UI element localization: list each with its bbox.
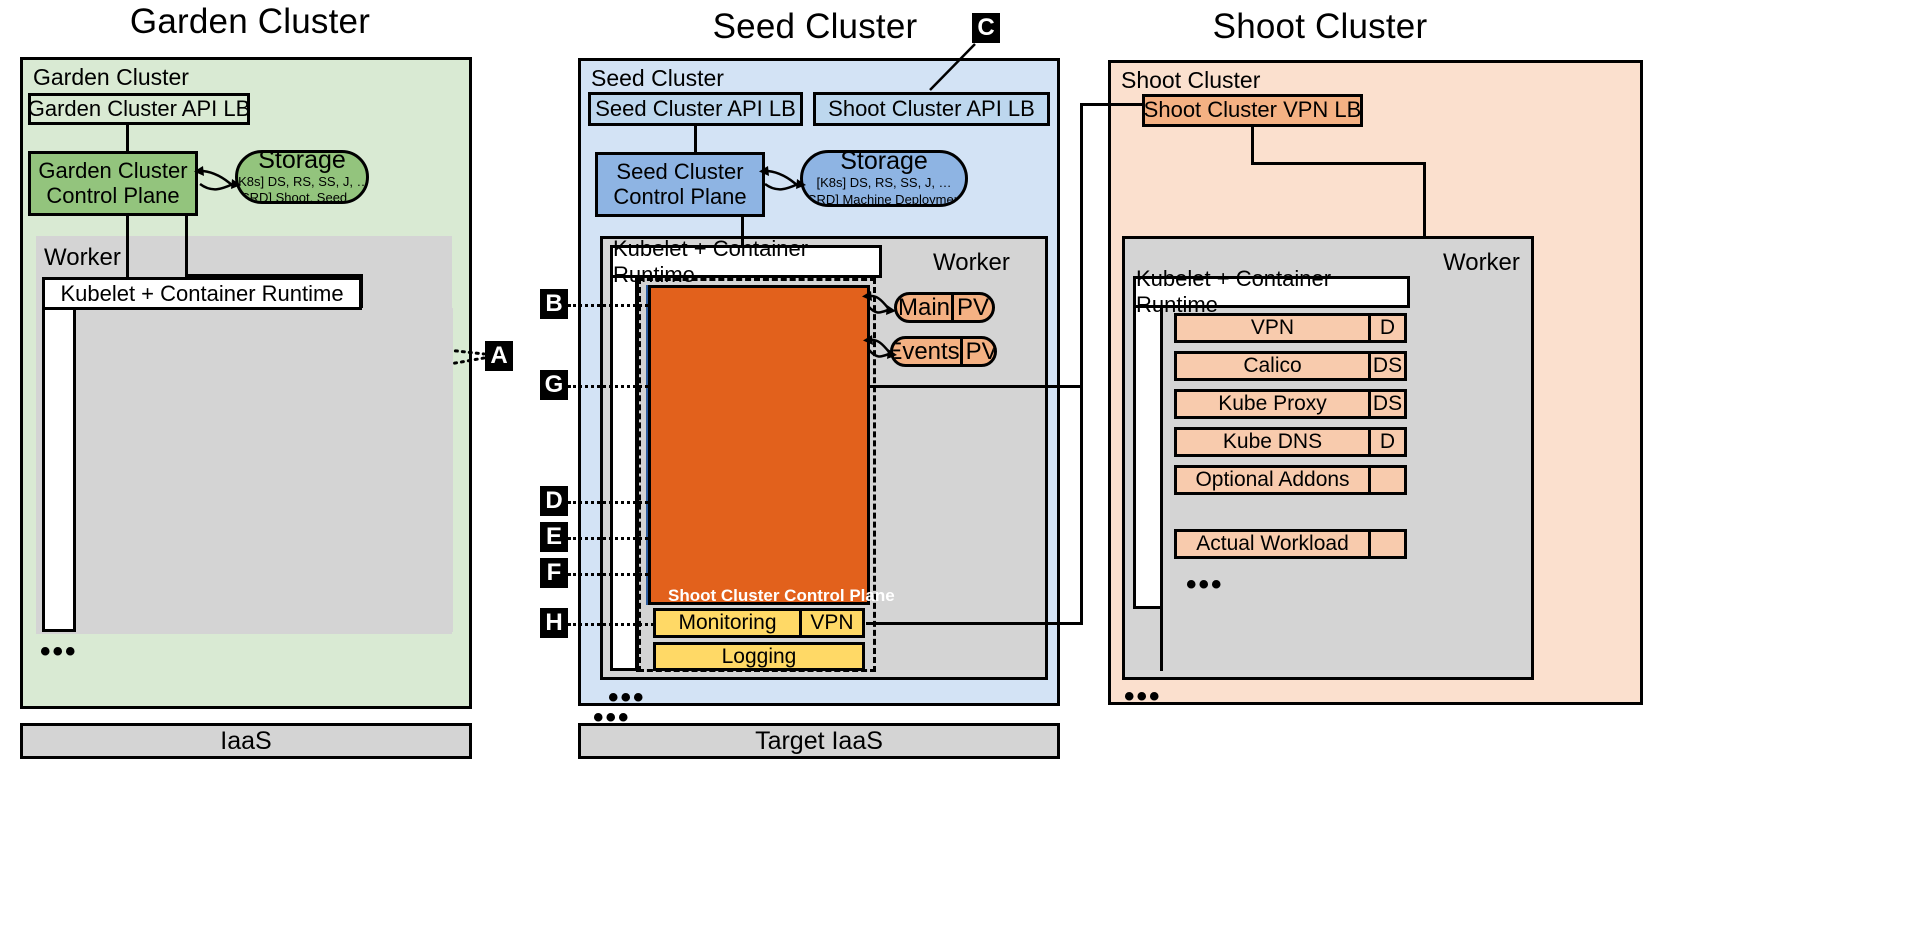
marker-h: H bbox=[540, 608, 568, 638]
shoot-cluster-vpn-lb[interactable]: Shoot Cluster VPN LB bbox=[1142, 94, 1363, 127]
marker-d: D bbox=[540, 486, 568, 516]
pod-label: Kube Proxy bbox=[1177, 392, 1368, 416]
seed-monitoring-vpn-v bbox=[1080, 385, 1083, 625]
garden-cp-line2: Control Plane bbox=[46, 184, 179, 208]
pod-label: Actual Workload bbox=[1177, 532, 1368, 556]
seed-apiserver-to-shootlb-v bbox=[1080, 103, 1083, 388]
garden-cp-to-kubelet-v bbox=[126, 215, 129, 280]
pod-kind: D bbox=[1368, 316, 1404, 340]
seed-worker-label: Worker bbox=[933, 249, 1010, 277]
seed-iaas-bar: Target IaaS bbox=[578, 723, 1060, 759]
pod-kind bbox=[1368, 468, 1404, 492]
garden-worker-label: Worker bbox=[44, 244, 121, 272]
garden-pod-area bbox=[73, 308, 453, 632]
garden-storage-title: Storage bbox=[258, 150, 346, 173]
pv-kind: PV bbox=[951, 295, 992, 320]
seed-apiserver-to-shootlb-h bbox=[866, 385, 1082, 388]
garden-storage-k8s: [K8s] DS, RS, SS, J, … bbox=[235, 174, 369, 190]
seed-shoot-control-plane-caption: Shoot Cluster Control Plane bbox=[668, 586, 853, 606]
pod-label: VPN bbox=[1177, 316, 1368, 340]
pod-kind: D bbox=[1368, 430, 1404, 454]
seed-pv-events[interactable]: Events PV bbox=[890, 336, 997, 367]
shootlb-top-h bbox=[1080, 103, 1144, 106]
seed-storage[interactable]: Storage [K8s] DS, RS, SS, J, … [CRD] Mac… bbox=[800, 150, 968, 207]
garden-storage-crd: [CRD] Shoot, Seed, … bbox=[237, 190, 368, 204]
garden-cluster-control-plane[interactable]: Garden Cluster Control Plane bbox=[28, 151, 198, 216]
seed-pv-main[interactable]: Main PV bbox=[894, 292, 995, 323]
pod-kind: DS bbox=[1368, 392, 1404, 416]
pod-kind: DS bbox=[1368, 354, 1404, 378]
pod-label: Calico bbox=[1177, 354, 1368, 378]
garden-kubelet-body bbox=[42, 308, 76, 632]
garden-cluster-title: Garden Cluster bbox=[20, 2, 480, 42]
seed-kubelet-body bbox=[610, 276, 638, 671]
garden-cluster-panel-label: Garden Cluster bbox=[33, 64, 189, 91]
garden-iaas-bar: IaaS bbox=[20, 723, 472, 759]
pv-label: Events bbox=[890, 339, 960, 364]
seed-cluster-panel-label: Seed Cluster bbox=[591, 65, 724, 92]
pod-label: Kube DNS bbox=[1177, 430, 1368, 454]
shoot-vpnlb-h1 bbox=[1251, 162, 1426, 165]
garden-cluster-api-lb[interactable]: Garden Cluster API LB bbox=[28, 93, 250, 125]
shoot-vpnlb-v1 bbox=[1251, 126, 1254, 162]
seed-shoot-control-plane-band bbox=[648, 285, 870, 605]
pv-kind: PV bbox=[960, 339, 997, 364]
marker-g: G bbox=[540, 370, 568, 400]
shoot-pod-actual-workload[interactable]: Actual Workload bbox=[1174, 529, 1407, 559]
seed-cluster-control-plane[interactable]: Seed Cluster Control Plane bbox=[595, 152, 765, 217]
garden-kubelet: Kubelet + Container Runtime bbox=[42, 277, 362, 310]
seed-cp-line1: Seed Cluster bbox=[616, 160, 743, 184]
garden-storage[interactable]: Storage [K8s] DS, RS, SS, J, … [CRD] Sho… bbox=[235, 150, 369, 204]
seed-storage-title: Storage bbox=[840, 150, 928, 174]
shoot-cluster-api-lb[interactable]: Shoot Cluster API LB bbox=[813, 92, 1050, 126]
shoot-kubelet-body bbox=[1133, 306, 1163, 609]
shoot-pod-kube-dns[interactable]: Kube DNS D bbox=[1174, 427, 1407, 457]
marker-b: B bbox=[540, 289, 568, 319]
shoot-kubelet: Kubelet + Container Runtime bbox=[1133, 276, 1410, 308]
shoot-cluster-panel-label: Shoot Cluster bbox=[1121, 67, 1260, 94]
marker-e: E bbox=[540, 522, 568, 552]
seed-lb-to-cp-connector bbox=[694, 125, 697, 153]
shoot-pod-optional-addons[interactable]: Optional Addons bbox=[1174, 465, 1407, 495]
marker-a: A bbox=[485, 341, 513, 371]
pod-kind bbox=[1368, 532, 1404, 556]
shoot-worker-more: ••• bbox=[1186, 570, 1224, 600]
garden-cp-line1: Garden Cluster bbox=[38, 159, 187, 183]
pv-label: Main bbox=[897, 295, 951, 320]
marker-c: C bbox=[972, 13, 1000, 43]
garden-lb-to-cp-connector bbox=[126, 124, 129, 152]
seed-cp-line2: Control Plane bbox=[613, 185, 746, 209]
seed-storage-crd: [CRD] Machine Deployment bbox=[803, 192, 964, 208]
shoot-panel-more: ••• bbox=[1124, 682, 1162, 712]
garden-cp-to-pods-v1 bbox=[185, 215, 188, 277]
marker-f: F bbox=[540, 558, 568, 588]
seed-kubelet: Kubelet + Container Runtime bbox=[610, 245, 882, 278]
seed-storage-k8s: [K8s] DS, RS, SS, J, … bbox=[816, 175, 951, 191]
shoot-worker-label: Worker bbox=[1443, 249, 1520, 277]
shoot-pod-calico[interactable]: Calico DS bbox=[1174, 351, 1407, 381]
shoot-cluster-title: Shoot Cluster bbox=[1100, 7, 1540, 47]
seed-monitoring-vpn-h bbox=[866, 622, 1082, 625]
garden-panel-more: ••• bbox=[40, 637, 78, 667]
shoot-pod-kube-proxy[interactable]: Kube Proxy DS bbox=[1174, 389, 1407, 419]
seed-cluster-api-lb[interactable]: Seed Cluster API LB bbox=[588, 92, 803, 126]
pod-label: Optional Addons bbox=[1177, 468, 1368, 492]
